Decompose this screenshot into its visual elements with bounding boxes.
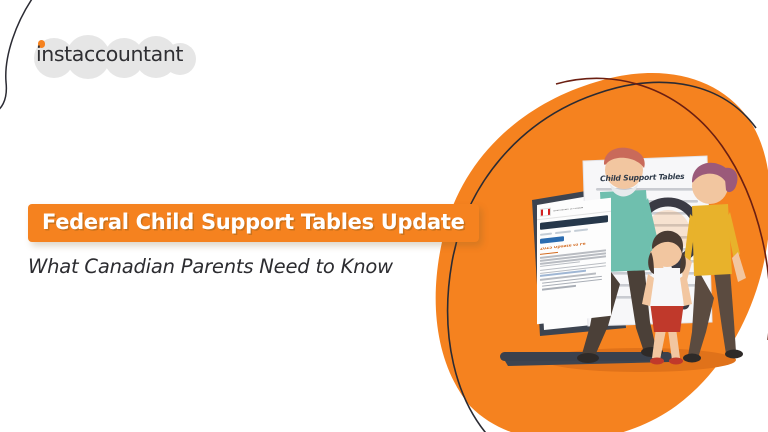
page-subtitle: What Canadian Parents Need to Know bbox=[28, 257, 428, 277]
hero-illustration: Government of Canada 2025 Update to Fe bbox=[440, 60, 768, 432]
logo-wordmark: instaccountant bbox=[36, 44, 183, 65]
document-title: Child Support Tables bbox=[580, 171, 704, 183]
canada-flag-icon bbox=[540, 208, 551, 217]
primary-action-button[interactable] bbox=[540, 236, 564, 244]
gov-canada-label: Government of Canada bbox=[553, 206, 583, 212]
paper-document-overlay: Child Support Tables bbox=[580, 158, 708, 321]
heading-underline bbox=[540, 252, 558, 255]
breadcrumb-item[interactable] bbox=[540, 233, 552, 236]
breadcrumb-item[interactable] bbox=[555, 230, 571, 234]
banner-canvas: instaccountant Federal Child Support Tab… bbox=[0, 0, 768, 432]
title-banner: Federal Child Support Tables Update bbox=[28, 204, 479, 242]
logo[interactable]: instaccountant bbox=[28, 32, 196, 82]
headline-block: Federal Child Support Tables Update What… bbox=[28, 204, 428, 277]
page-title: Federal Child Support Tables Update bbox=[42, 210, 465, 234]
